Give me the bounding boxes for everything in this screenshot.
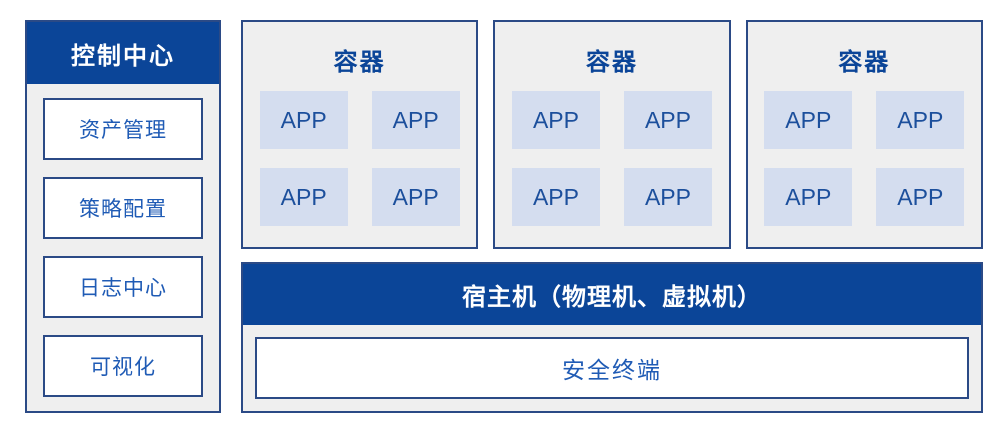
app-box[interactable]: APP (876, 91, 964, 149)
container-title: 容器 (334, 42, 386, 77)
container-box-1: 容器 APP APP APP APP (241, 20, 478, 249)
security-terminal-box[interactable]: 安全终端 (255, 337, 969, 399)
app-box[interactable]: APP (512, 168, 600, 226)
containers-row: 容器 APP APP APP APP 容器 APP APP APP APP (241, 20, 983, 249)
diagram-canvas: 控制中心 资产管理 策略配置 日志中心 可视化 容器 APP APP APP A… (0, 0, 1001, 437)
app-grid: APP APP APP APP (260, 91, 460, 226)
container-title: 容器 (586, 42, 638, 77)
control-center-item-policy-configuration[interactable]: 策略配置 (43, 177, 203, 239)
app-box[interactable]: APP (764, 91, 852, 149)
control-center-item-list: 资产管理 策略配置 日志中心 可视化 (27, 84, 219, 411)
app-grid: APP APP APP APP (764, 91, 964, 226)
control-center-title: 控制中心 (27, 22, 219, 84)
host-machine-body: 安全终端 (243, 325, 981, 411)
control-center-item-log-center[interactable]: 日志中心 (43, 256, 203, 318)
app-box[interactable]: APP (876, 168, 964, 226)
app-box[interactable]: APP (624, 91, 712, 149)
app-box[interactable]: APP (260, 168, 348, 226)
container-box-3: 容器 APP APP APP APP (746, 20, 983, 249)
control-center-item-asset-management[interactable]: 资产管理 (43, 98, 203, 160)
app-box[interactable]: APP (372, 91, 460, 149)
app-box[interactable]: APP (260, 91, 348, 149)
host-machine-panel: 宿主机（物理机、虚拟机） 安全终端 (241, 262, 983, 413)
control-center-panel: 控制中心 资产管理 策略配置 日志中心 可视化 (25, 20, 221, 413)
app-box[interactable]: APP (512, 91, 600, 149)
container-box-2: 容器 APP APP APP APP (493, 20, 730, 249)
app-box[interactable]: APP (764, 168, 852, 226)
app-box[interactable]: APP (624, 168, 712, 226)
app-grid: APP APP APP APP (512, 91, 712, 226)
app-box[interactable]: APP (372, 168, 460, 226)
right-area: 容器 APP APP APP APP 容器 APP APP APP APP (241, 20, 983, 413)
host-machine-title: 宿主机（物理机、虚拟机） (243, 264, 981, 325)
container-title: 容器 (838, 42, 890, 77)
control-center-item-visualization[interactable]: 可视化 (43, 335, 203, 397)
